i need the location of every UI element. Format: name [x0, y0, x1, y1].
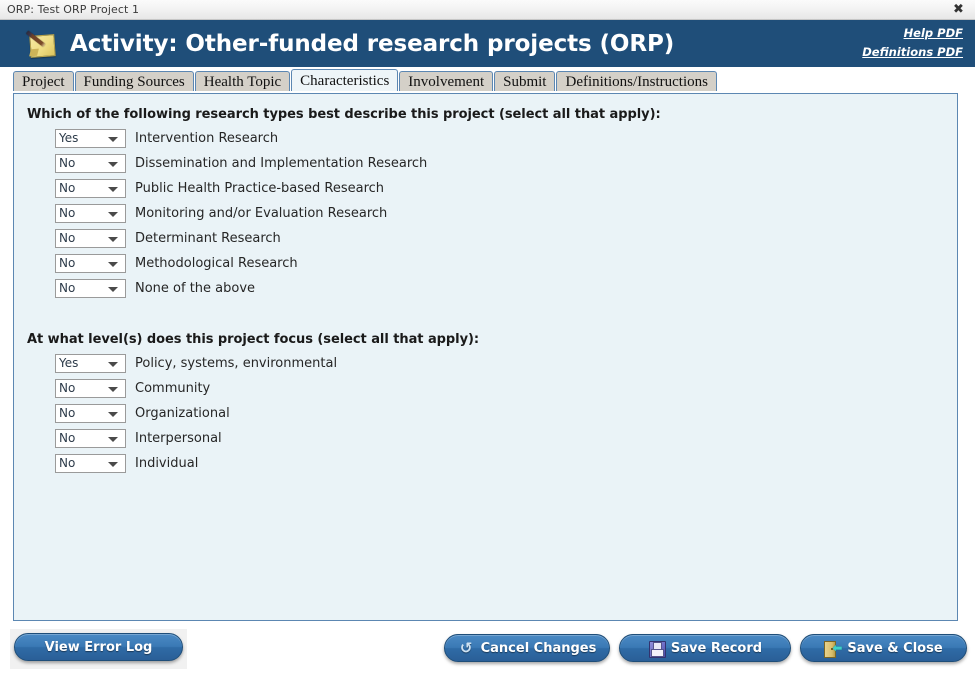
- row-label: Organizational: [135, 406, 230, 421]
- select-organizational[interactable]: No: [55, 404, 126, 423]
- row-intervention-research: Yes Intervention Research: [14, 126, 957, 151]
- row-label: None of the above: [135, 281, 255, 296]
- chevron-down-icon: [108, 437, 118, 442]
- save-and-close-button[interactable]: ⬅ Save & Close: [800, 634, 967, 662]
- select-value: No: [56, 280, 75, 297]
- row-individual: No Individual: [14, 451, 957, 476]
- select-individual[interactable]: No: [55, 454, 126, 473]
- button-label: Save & Close: [847, 641, 942, 656]
- note-pencil-icon: [26, 29, 60, 59]
- close-icon[interactable]: ✖: [942, 0, 975, 19]
- page-title: Activity: Other-funded research projects…: [70, 31, 674, 57]
- row-determinant-research: No Determinant Research: [14, 226, 957, 251]
- row-interpersonal: No Interpersonal: [14, 426, 957, 451]
- chevron-down-icon: [108, 162, 118, 167]
- app-header: Activity: Other-funded research projects…: [0, 20, 975, 67]
- row-label: Interpersonal: [135, 431, 222, 446]
- question-2-rows: Yes Policy, systems, environmental No Co…: [14, 351, 957, 476]
- select-value: No: [56, 405, 75, 422]
- select-none-of-the-above[interactable]: No: [55, 279, 126, 298]
- help-pdf-link[interactable]: Help PDF: [862, 24, 963, 43]
- chevron-down-icon: [108, 287, 118, 292]
- tab-bar: Project Funding Sources Health Topic Cha…: [0, 67, 975, 91]
- row-none-of-the-above: No None of the above: [14, 276, 957, 301]
- tab-definitions-instructions[interactable]: Definitions/Instructions: [556, 71, 717, 91]
- row-label: Policy, systems, environmental: [135, 356, 337, 371]
- chevron-down-icon: [108, 187, 118, 192]
- row-methodological-research: No Methodological Research: [14, 251, 957, 276]
- chevron-down-icon: [108, 412, 118, 417]
- row-community: No Community: [14, 376, 957, 401]
- button-label: Save Record: [671, 641, 762, 656]
- characteristics-panel: Which of the following research types be…: [13, 93, 958, 621]
- header-links: Help PDF Definitions PDF: [862, 24, 963, 62]
- select-value: No: [56, 155, 75, 172]
- row-label: Intervention Research: [135, 131, 278, 146]
- tab-project[interactable]: Project: [13, 71, 74, 91]
- tab-characteristics[interactable]: Characteristics: [291, 69, 398, 91]
- select-value: Yes: [56, 130, 78, 147]
- chevron-down-icon: [108, 362, 118, 367]
- save-record-button[interactable]: Save Record: [619, 634, 791, 662]
- floppy-disk-icon: [648, 640, 665, 657]
- tab-submit[interactable]: Submit: [494, 71, 555, 91]
- view-error-log-button[interactable]: View Error Log: [14, 633, 183, 661]
- tab-funding-sources[interactable]: Funding Sources: [75, 71, 194, 91]
- select-value: No: [56, 255, 75, 272]
- chevron-down-icon: [108, 262, 118, 267]
- row-label: Dissemination and Implementation Researc…: [135, 156, 427, 171]
- select-policy-systems-environmental[interactable]: Yes: [55, 354, 126, 373]
- undo-icon: ↺: [458, 640, 475, 657]
- question-1-rows: Yes Intervention Research No Disseminati…: [14, 126, 957, 301]
- window-titlebar: ORP: Test ORP Project 1 ✖: [0, 0, 975, 20]
- question-1-text: Which of the following research types be…: [14, 94, 957, 122]
- select-determinant-research[interactable]: No: [55, 229, 126, 248]
- chevron-down-icon: [108, 212, 118, 217]
- select-value: Yes: [56, 355, 78, 372]
- row-organizational: No Organizational: [14, 401, 957, 426]
- row-label: Monitoring and/or Evaluation Research: [135, 206, 387, 221]
- select-value: No: [56, 180, 75, 197]
- select-value: No: [56, 230, 75, 247]
- select-value: No: [56, 380, 75, 397]
- chevron-down-icon: [108, 237, 118, 242]
- definitions-pdf-link[interactable]: Definitions PDF: [862, 43, 963, 62]
- select-value: No: [56, 455, 75, 472]
- question-2-text: At what level(s) does this project focus…: [14, 301, 957, 347]
- select-public-health-practice-based-research[interactable]: No: [55, 179, 126, 198]
- row-label: Determinant Research: [135, 231, 281, 246]
- select-dissemination-implementation-research[interactable]: No: [55, 154, 126, 173]
- select-intervention-research[interactable]: Yes: [55, 129, 126, 148]
- select-methodological-research[interactable]: No: [55, 254, 126, 273]
- cancel-changes-button[interactable]: ↺ Cancel Changes: [444, 634, 610, 662]
- door-exit-icon: ⬅: [824, 640, 841, 657]
- select-value: No: [56, 430, 75, 447]
- select-monitoring-evaluation-research[interactable]: No: [55, 204, 126, 223]
- row-label: Methodological Research: [135, 256, 298, 271]
- row-monitoring-evaluation-research: No Monitoring and/or Evaluation Research: [14, 201, 957, 226]
- row-label: Community: [135, 381, 210, 396]
- footer-toolbar: View Error Log ↺ Cancel Changes Save Rec…: [0, 625, 975, 681]
- chevron-down-icon: [108, 462, 118, 467]
- button-label: Cancel Changes: [481, 641, 597, 656]
- row-public-health-practice-based-research: No Public Health Practice-based Research: [14, 176, 957, 201]
- select-community[interactable]: No: [55, 379, 126, 398]
- select-value: No: [56, 205, 75, 222]
- select-interpersonal[interactable]: No: [55, 429, 126, 448]
- tab-health-topic[interactable]: Health Topic: [195, 71, 290, 91]
- row-policy-systems-environmental: Yes Policy, systems, environmental: [14, 351, 957, 376]
- chevron-down-icon: [108, 387, 118, 392]
- tab-involvement[interactable]: Involvement: [399, 71, 493, 91]
- window-title: ORP: Test ORP Project 1: [0, 3, 139, 16]
- row-dissemination-implementation-research: No Dissemination and Implementation Rese…: [14, 151, 957, 176]
- row-label: Individual: [135, 456, 198, 471]
- button-label: View Error Log: [45, 640, 153, 655]
- row-label: Public Health Practice-based Research: [135, 181, 384, 196]
- chevron-down-icon: [108, 137, 118, 142]
